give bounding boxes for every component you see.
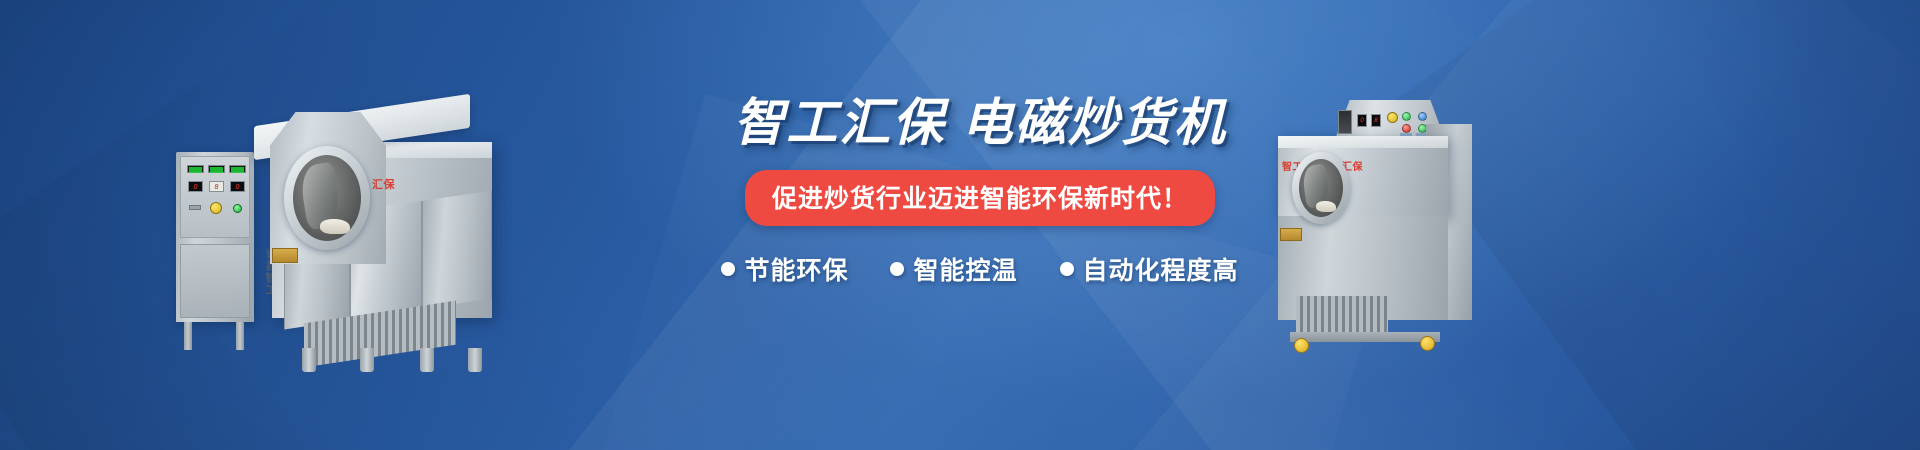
- control-cabinet: 0 8 0: [176, 152, 254, 322]
- promo-banner: 0 8 0 许昌智工: [0, 0, 1920, 450]
- product-image-roasting-machine-compact: 0 8 智工 汇保: [1278, 100, 1478, 350]
- filled-circle-bullet-icon: [1060, 262, 1074, 276]
- display-value-2: 8: [1372, 115, 1380, 128]
- machine-base-frame: [1290, 332, 1440, 342]
- machine-feet: [302, 348, 482, 374]
- emergency-stop-knob[interactable]: [210, 202, 222, 214]
- meter-3: [229, 165, 246, 173]
- drum-interior: [293, 155, 361, 241]
- banner-copy-block: 智工汇保 电磁炒货机 促进炒货行业迈进智能环保新时代！ 节能环保 智能控温 自动…: [700, 96, 1260, 287]
- caster-wheel-right: [1420, 336, 1435, 351]
- digital-readout-3: 0: [230, 181, 245, 192]
- machine-nameplate: [1280, 228, 1302, 241]
- display-value-1: 0: [1358, 115, 1366, 128]
- readout-value-3: 0: [231, 182, 244, 193]
- feature-label-1: 节能环保: [744, 251, 848, 287]
- control-cabinet-lower-door: [180, 244, 250, 318]
- banner-headline: 智工汇保 电磁炒货机: [700, 96, 1260, 150]
- main-display: [1338, 110, 1352, 134]
- tagline-pill: 促进炒货行业迈进智能环保新时代！: [745, 170, 1215, 226]
- emergency-stop-knob[interactable]: [1387, 112, 1398, 123]
- feature-label-2: 智能控温: [913, 251, 1017, 287]
- feature-item-2: 智能控温: [890, 251, 1017, 287]
- feature-item-3: 自动化程度高: [1060, 251, 1239, 287]
- meter-1: [187, 165, 204, 173]
- drum-interior: [1299, 159, 1343, 217]
- drum-opening-ring: [284, 146, 370, 250]
- feature-list: 节能环保 智能控温 自动化程度高: [700, 251, 1260, 287]
- brand-mark-right: 汇保: [372, 176, 395, 192]
- caster-wheel-left: [1294, 338, 1309, 353]
- digital-readout-1: 0: [188, 181, 203, 192]
- door-3: [422, 190, 492, 308]
- cabinet-legs: [182, 322, 248, 352]
- display-1: 0: [1357, 114, 1367, 127]
- product-image-roasting-machine-large: 0 8 0 许昌智工: [176, 98, 596, 360]
- mode-button-blue[interactable]: [1418, 112, 1427, 121]
- control-panel-face: 0 8 0: [180, 156, 250, 238]
- toggle-switch[interactable]: [189, 205, 201, 210]
- ventilation-louvers: [1296, 296, 1388, 336]
- power-indicator-lamp: [233, 204, 242, 213]
- meter-2: [208, 165, 225, 173]
- drum-contents: [1316, 201, 1336, 213]
- feature-item-1: 节能环保: [721, 251, 848, 287]
- digital-readout-2: 8: [209, 181, 224, 192]
- filled-circle-bullet-icon: [890, 262, 904, 276]
- machine-nameplate: [272, 248, 298, 263]
- machine-upper-top-edge: [1278, 136, 1448, 148]
- display-2: 8: [1371, 114, 1381, 127]
- filled-circle-bullet-icon: [721, 262, 735, 276]
- tagline-row: 促进炒货行业迈进智能环保新时代！: [700, 170, 1260, 226]
- drum-opening-ring: [1292, 152, 1350, 224]
- readout-value-1: 0: [189, 182, 202, 193]
- stop-button-red[interactable]: [1402, 124, 1411, 133]
- feature-label-3: 自动化程度高: [1083, 251, 1239, 287]
- drum-contents: [320, 219, 350, 234]
- start-button-green[interactable]: [1402, 112, 1411, 121]
- readout-value-2: 8: [210, 182, 223, 193]
